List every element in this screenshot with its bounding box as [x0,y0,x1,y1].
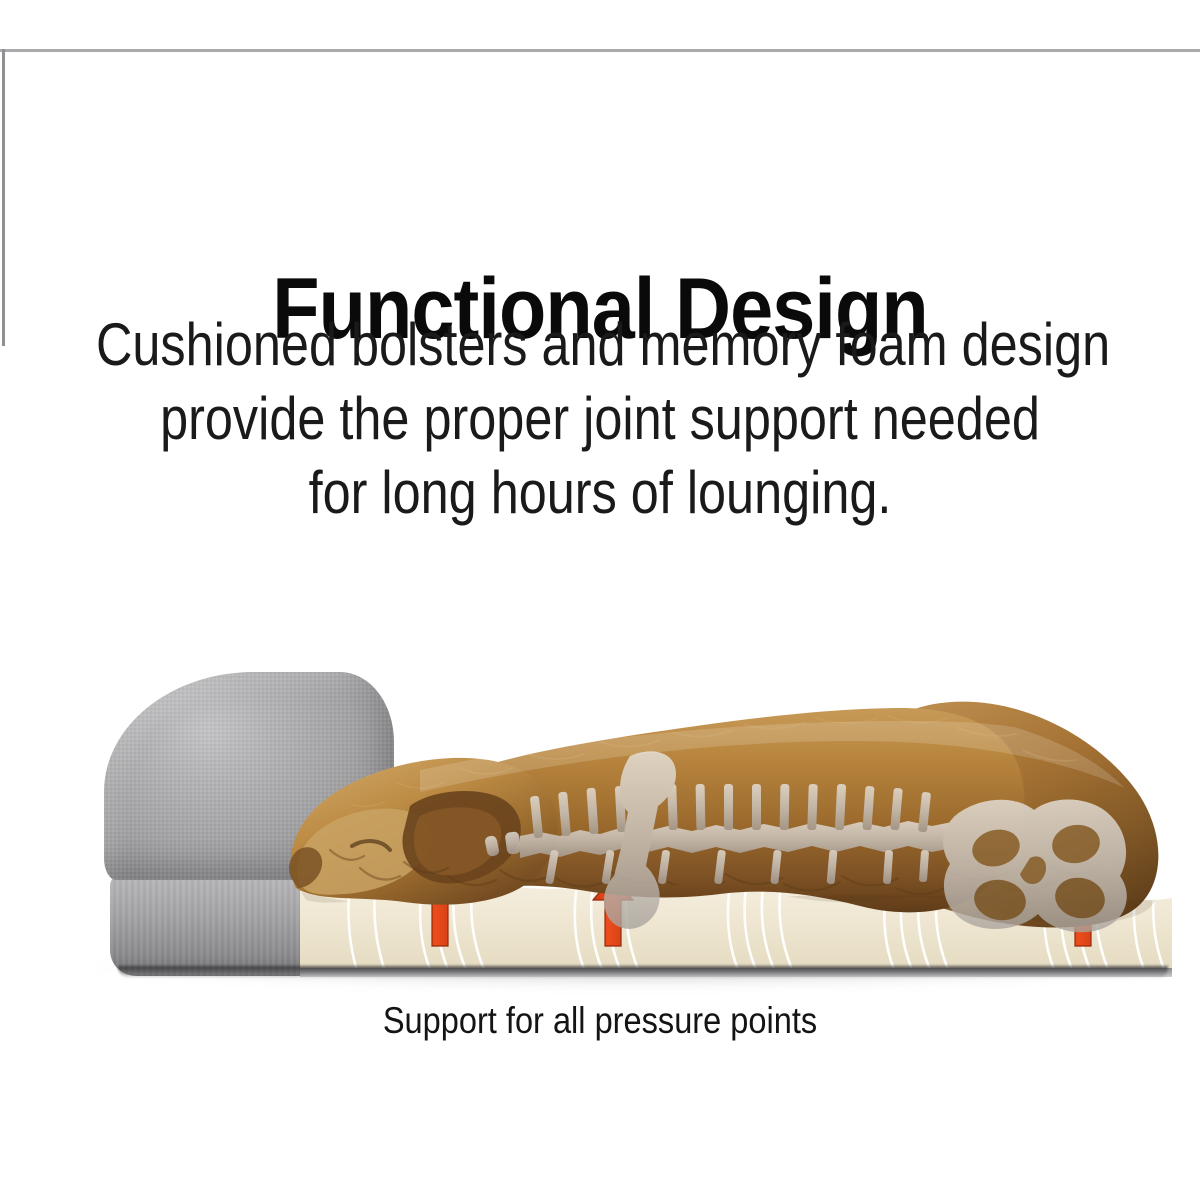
pressure-points-caption: Support for all pressure points [72,1000,1128,1042]
subtitle-line-1: Cushioned bolsters and memory foam desig… [96,308,1104,382]
top-divider-rule [0,49,1200,52]
infographic-page: Functional Design Cushioned bolsters and… [0,0,1200,1200]
subtitle-line-2: provide the proper joint support needed [96,382,1104,456]
left-divider-rule [2,49,5,346]
subtitle-block: Cushioned bolsters and memory foam desig… [96,308,1104,530]
subtitle-line-3: for long hours of lounging. [96,456,1104,530]
